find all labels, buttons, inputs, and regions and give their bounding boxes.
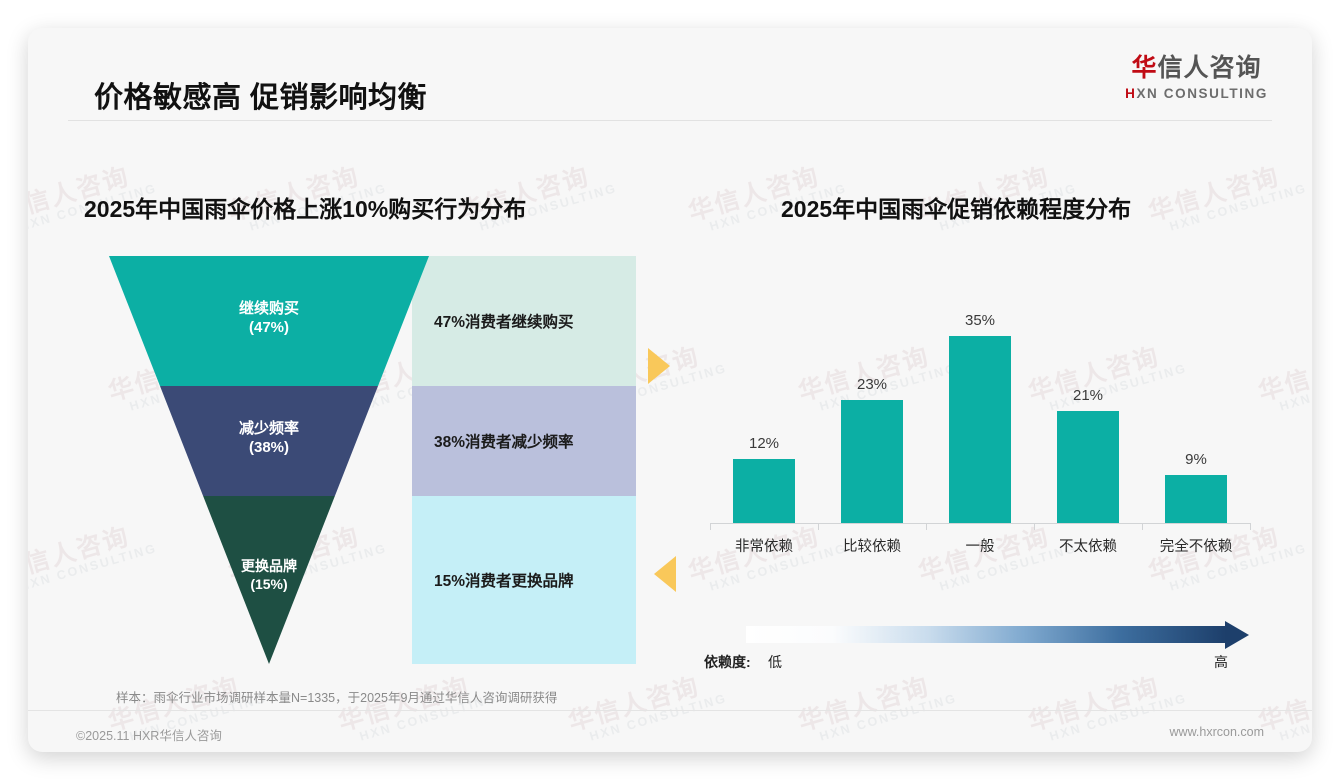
axis-tick bbox=[818, 523, 819, 530]
brand-logo-en-accent: H bbox=[1125, 86, 1136, 101]
bar-category-label: 不太依赖 bbox=[1038, 535, 1138, 556]
bar-rect[interactable] bbox=[1165, 475, 1227, 523]
funnel-segment[interactable] bbox=[203, 496, 335, 664]
brand-logo-en: HXN CONSULTING bbox=[1125, 86, 1268, 101]
brand-logo: 华信人咨询 HXN CONSULTING bbox=[1125, 54, 1268, 101]
brand-logo-cn: 华信人咨询 bbox=[1125, 54, 1268, 83]
right-triangle-icon bbox=[648, 348, 670, 384]
gradient-arrow bbox=[746, 622, 1266, 648]
bar-category-label: 完全不依赖 bbox=[1146, 535, 1246, 556]
watermark-en: HXN CONSULTING bbox=[1278, 362, 1312, 414]
bar-value-label: 21% bbox=[1073, 387, 1103, 404]
left-triangle-icon bbox=[654, 556, 676, 592]
right-chart-title: 2025年中国雨伞促销依赖程度分布 bbox=[781, 190, 1131, 224]
arrow-head-icon bbox=[1225, 621, 1249, 649]
bar-value-label: 35% bbox=[965, 312, 995, 329]
bar-chart: 12%23%35%21%9% 非常依赖比较依赖一般不太依赖完全不依赖 bbox=[688, 283, 1268, 588]
funnel-chart: 继续购买(47%)47%消费者继续购买减少频率(38%)38%消费者减少频率更换… bbox=[94, 256, 636, 664]
legend-caption: 依赖度: bbox=[704, 652, 751, 672]
bar-value-label: 23% bbox=[857, 376, 887, 393]
legend-low-label: 低 bbox=[768, 652, 782, 672]
bar-rect[interactable] bbox=[733, 459, 795, 523]
funnel-side-panel bbox=[412, 496, 636, 664]
bar-rect[interactable] bbox=[1057, 411, 1119, 523]
funnel-side-panel bbox=[412, 386, 636, 496]
brand-logo-cn-rest: 信人咨询 bbox=[1158, 54, 1262, 82]
bar-category-label: 一般 bbox=[930, 535, 1030, 556]
brand-logo-cn-accent: 华 bbox=[1132, 54, 1158, 82]
bar-column[interactable]: 9% bbox=[1146, 283, 1246, 523]
bar-value-label: 12% bbox=[749, 435, 779, 452]
funnel-svg bbox=[94, 256, 636, 664]
axis-tick bbox=[1142, 523, 1143, 530]
slide-card: 华信人咨询HXN CONSULTING华信人咨询HXN CONSULTING华信… bbox=[28, 28, 1312, 752]
bar-column[interactable]: 23% bbox=[822, 283, 922, 523]
bar-plot-area: 12%23%35%21%9% bbox=[710, 283, 1250, 523]
bar-column[interactable]: 12% bbox=[714, 283, 814, 523]
axis-tick bbox=[710, 523, 711, 530]
footer-copyright: ©2025.11 HXR华信人咨询 bbox=[76, 725, 222, 744]
source-note: 样本：雨伞行业市场调研样本量N=1335，于2025年9月通过华信人咨询调研获得 bbox=[116, 687, 557, 706]
bar-column[interactable]: 35% bbox=[930, 283, 1030, 523]
bar-rect[interactable] bbox=[841, 400, 903, 523]
watermark-text: 华信人咨询HXN CONSULTING bbox=[1146, 157, 1309, 239]
header-divider bbox=[68, 120, 1272, 121]
funnel-segment[interactable] bbox=[160, 386, 378, 496]
bar-column[interactable]: 21% bbox=[1038, 283, 1138, 523]
gradient-bar bbox=[746, 626, 1226, 643]
footer-website[interactable]: www.hxrcon.com bbox=[1170, 725, 1264, 739]
axis-tick bbox=[926, 523, 927, 530]
bar-value-label: 9% bbox=[1185, 451, 1207, 468]
bar-rect[interactable] bbox=[949, 336, 1011, 523]
left-chart-title: 2025年中国雨伞价格上涨10%购买行为分布 bbox=[84, 190, 526, 224]
slide-header: 价格敏感高 促销影响均衡 华信人咨询 HXN CONSULTING bbox=[28, 28, 1312, 120]
legend-high-label: 高 bbox=[1214, 652, 1228, 672]
funnel-segment[interactable] bbox=[109, 256, 429, 386]
watermark-cn: 华信人咨询 bbox=[1146, 157, 1305, 226]
watermark-en: HXN CONSULTING bbox=[1168, 182, 1308, 234]
bar-category-label: 非常依赖 bbox=[714, 535, 814, 556]
bar-category-labels: 非常依赖比较依赖一般不太依赖完全不依赖 bbox=[710, 535, 1250, 556]
axis-tick bbox=[1250, 523, 1251, 530]
funnel-side-panel bbox=[412, 256, 636, 386]
slide-footer: ©2025.11 HXR华信人咨询 www.hxrcon.com bbox=[28, 711, 1312, 752]
bar-x-axis-ticks bbox=[710, 523, 1250, 530]
page-title: 价格敏感高 促销影响均衡 bbox=[94, 74, 427, 116]
axis-tick bbox=[1034, 523, 1035, 530]
dependency-gradient-legend: 依赖度: 低 高 bbox=[746, 622, 1266, 678]
brand-logo-en-rest: XN CONSULTING bbox=[1136, 86, 1268, 101]
bar-category-label: 比较依赖 bbox=[822, 535, 922, 556]
